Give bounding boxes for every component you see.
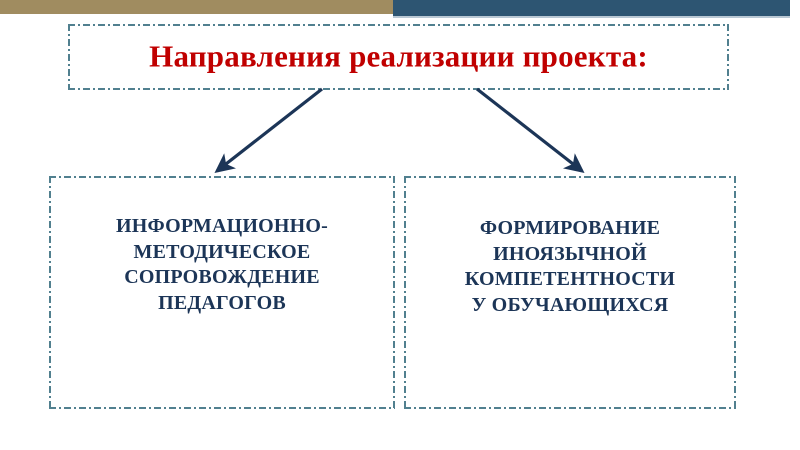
top-bar-underline (393, 16, 790, 18)
title-box: Направления реализации проекта: (68, 24, 729, 90)
top-bar-right-margin (790, 0, 800, 16)
branch-left-line-4: ПЕДАГОГОВ (57, 291, 387, 317)
branch-right-line-4: У ОБУЧАЮЩИХСЯ (412, 293, 728, 319)
top-bar-blue (393, 0, 790, 16)
branch-right-text: ФОРМИРОВАНИЕ ИНОЯЗЫЧНОЙ КОМПЕТЕНТНОСТИ У… (412, 216, 728, 318)
branch-left-line-3: СОПРОВОЖДЕНИЕ (57, 265, 387, 291)
branch-left-line-2: МЕТОДИЧЕСКОЕ (57, 240, 387, 266)
branch-right-line-3: КОМПЕТЕНТНОСТИ (412, 267, 728, 293)
page-title: Направления реализации проекта: (68, 41, 729, 74)
arrow-to-right-branch (477, 89, 582, 171)
branch-box-right: ФОРМИРОВАНИЕ ИНОЯЗЫЧНОЙ КОМПЕТЕНТНОСТИ У… (404, 176, 736, 409)
arrow-to-left-branch (217, 89, 322, 171)
branch-left-text: ИНФОРМАЦИОННО- МЕТОДИЧЕСКОЕ СОПРОВОЖДЕНИ… (57, 214, 387, 316)
top-bar-tan (0, 0, 393, 14)
branch-left-line-1: ИНФОРМАЦИОННО- (57, 214, 387, 240)
branch-right-line-1: ФОРМИРОВАНИЕ (412, 216, 728, 242)
slide-canvas: Направления реализации проекта: ИНФОРМАЦ… (0, 0, 800, 450)
branch-box-left: ИНФОРМАЦИОННО- МЕТОДИЧЕСКОЕ СОПРОВОЖДЕНИ… (49, 176, 395, 409)
branch-right-line-2: ИНОЯЗЫЧНОЙ (412, 242, 728, 268)
